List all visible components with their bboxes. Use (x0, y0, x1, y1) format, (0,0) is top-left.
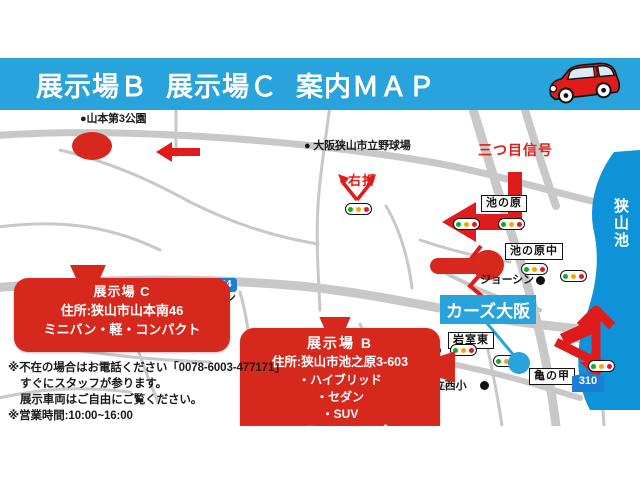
callout-c-tail (70, 265, 106, 281)
label-yamamoto-park: ●山本第3公園 (80, 113, 146, 126)
title-part-showroom-b: 展示場Ｂ (36, 65, 148, 104)
joshin-dot (536, 276, 545, 285)
annotation-turn-right: 右折 (348, 170, 376, 189)
note-line-3: 展示車両はご自由にご覧ください。 (8, 392, 308, 408)
traffic-signal-kamenoko (588, 360, 615, 372)
footer-notes: ※不在の場合はお電話ください「0078-6003-477171」 すぐにスタッフ… (8, 360, 308, 424)
annotation-third-signal: 三つ目信号 (478, 140, 553, 160)
note-line-4: ※営業時間:10:00~16:00 (8, 408, 308, 424)
nishi-elementary-dot (480, 381, 489, 390)
traffic-signal-joshin (560, 270, 587, 282)
label-sayamaike: 狭山池 (610, 198, 631, 249)
callout-showroom-c: 展示場 C 住所:狭山市山本南46 ミニバン・軽・コンパクト (14, 278, 230, 352)
note-line-2: すぐにスタッフが参ります。 (8, 376, 308, 392)
label-baseball-stadium: ● 大阪狭山市立野球場 (304, 140, 411, 153)
boxlabel-ikenoharanaka: 池の原中 (505, 243, 563, 260)
traffic-signal-left (453, 218, 480, 230)
boxlabel-ikenohara: 池の原 (481, 195, 527, 212)
traffic-signal-ikenoharanaka (521, 263, 548, 275)
page-title: 展示場Ｂ 展示場Ｃ 案内ＭＡＰ (36, 60, 436, 108)
traffic-signal-ukosetsu (345, 203, 372, 215)
showroom-b-marker-tail (430, 258, 486, 274)
map-flyer: 展示場Ｂ 展示場Ｃ 案内ＭＡＰ (0, 0, 640, 480)
title-part-showroom-c: 展示場Ｃ (166, 65, 278, 104)
callout-c-types: ミニバン・軽・コンパクト (14, 320, 230, 339)
boxlabel-kamenoko: 亀の甲 (529, 368, 575, 385)
shop-location-dot (508, 352, 530, 374)
traffic-signal-ikenohara (498, 218, 525, 230)
callout-b-title: 展示場 B (240, 333, 440, 353)
red-car-icon (540, 60, 626, 108)
note-line-1: ※不在の場合はお電話ください「0078-6003-477171」 (8, 360, 308, 376)
label-joshin: ジョーシン (480, 274, 534, 287)
showroom-c-marker (72, 132, 112, 160)
callout-c-title: 展示場 C (14, 282, 230, 301)
red-arrow-left (156, 142, 200, 162)
callout-b-tail-top (318, 317, 352, 331)
callout-c-address: 住所:狭山市山本南46 (14, 301, 230, 320)
title-part-map: 案内ＭＡＰ (296, 65, 436, 104)
shop-label-cars-osaka: カーズ大阪 (440, 295, 536, 324)
